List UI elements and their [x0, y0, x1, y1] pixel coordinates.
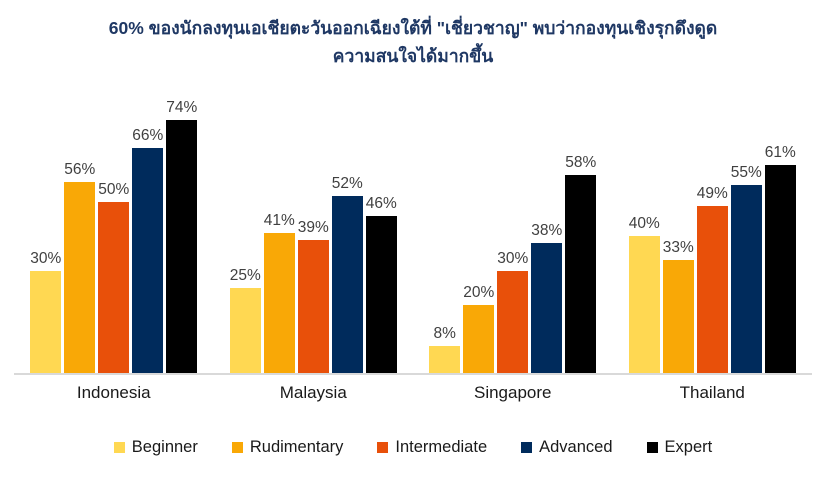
bar[interactable]: [531, 243, 562, 373]
bar-slot: 58%: [565, 100, 596, 373]
bar-value-label: 38%: [531, 223, 562, 239]
bar[interactable]: [64, 182, 95, 373]
bar-slot: 46%: [366, 100, 397, 373]
bar-group-indonesia: 30%56%50%66%74%: [14, 100, 214, 373]
bar[interactable]: [366, 216, 397, 373]
bar-value-label: 8%: [434, 326, 456, 342]
bar-slot: 8%: [429, 100, 460, 373]
bar-value-label: 74%: [166, 100, 197, 116]
legend-swatch-icon: [377, 442, 388, 453]
bar-value-label: 20%: [463, 285, 494, 301]
bar[interactable]: [731, 185, 762, 373]
legend-label: Beginner: [132, 438, 198, 457]
bar-value-label: 30%: [497, 251, 528, 267]
chart-container: 60% ของนักลงทุนเอเชียตะวันออกเฉียงใต้ที่…: [0, 0, 826, 485]
bar-value-label: 55%: [731, 165, 762, 181]
legend-label: Advanced: [539, 438, 612, 457]
bar-slot: 61%: [765, 100, 796, 373]
bar[interactable]: [30, 271, 61, 373]
bar[interactable]: [663, 260, 694, 373]
legend-swatch-icon: [232, 442, 243, 453]
bar-slot: 40%: [629, 100, 660, 373]
legend-swatch-icon: [114, 442, 125, 453]
legend-label: Intermediate: [395, 438, 487, 457]
bar-value-label: 30%: [30, 251, 61, 267]
bar[interactable]: [697, 206, 728, 373]
category-label-indonesia: Indonesia: [14, 383, 214, 403]
chart-title: 60% ของนักลงทุนเอเชียตะวันออกเฉียงใต้ที่…: [0, 14, 826, 70]
bar-value-label: 25%: [230, 268, 261, 284]
bar-value-label: 50%: [98, 182, 129, 198]
bar-slot: 74%: [166, 100, 197, 373]
bar-slot: 66%: [132, 100, 163, 373]
bar-value-label: 52%: [332, 176, 363, 192]
chart-title-line-1: 60% ของนักลงทุนเอเชียตะวันออกเฉียงใต้ที่…: [0, 14, 826, 42]
bar[interactable]: [429, 346, 460, 373]
legend-item-beginner[interactable]: Beginner: [114, 438, 198, 457]
bar-value-label: 46%: [366, 196, 397, 212]
bar-slot: 38%: [531, 100, 562, 373]
bar-value-label: 39%: [298, 220, 329, 236]
x-axis-category-labels: IndonesiaMalaysiaSingaporeThailand: [14, 383, 812, 403]
legend-label: Expert: [665, 438, 713, 457]
bar-value-label: 56%: [64, 162, 95, 178]
category-label-thailand: Thailand: [613, 383, 813, 403]
bar-groups: 30%56%50%66%74%25%41%39%52%46%8%20%30%38…: [14, 100, 812, 373]
bar-slot: 33%: [663, 100, 694, 373]
legend-swatch-icon: [647, 442, 658, 453]
bar[interactable]: [463, 305, 494, 373]
bar[interactable]: [298, 240, 329, 373]
bar-value-label: 66%: [132, 128, 163, 144]
bar-value-label: 61%: [765, 145, 796, 161]
category-label-malaysia: Malaysia: [214, 383, 414, 403]
plot-area: 30%56%50%66%74%25%41%39%52%46%8%20%30%38…: [14, 100, 812, 375]
bar-group-singapore: 8%20%30%38%58%: [413, 100, 613, 373]
bar[interactable]: [132, 148, 163, 373]
bar-slot: 50%: [98, 100, 129, 373]
bar-group-malaysia: 25%41%39%52%46%: [214, 100, 414, 373]
bar-value-label: 49%: [697, 186, 728, 202]
bar-value-label: 33%: [663, 240, 694, 256]
bar[interactable]: [497, 271, 528, 373]
x-axis-line: [14, 373, 812, 375]
bar-slot: 56%: [64, 100, 95, 373]
bar[interactable]: [332, 196, 363, 373]
bar-slot: 41%: [264, 100, 295, 373]
legend-item-advanced[interactable]: Advanced: [521, 438, 612, 457]
bar[interactable]: [765, 165, 796, 373]
legend-label: Rudimentary: [250, 438, 344, 457]
bar-slot: 30%: [497, 100, 528, 373]
chart-legend: BeginnerRudimentaryIntermediateAdvancedE…: [0, 438, 826, 457]
chart-title-line-2: ความสนใจได้มากขึ้น: [0, 42, 826, 70]
category-label-singapore: Singapore: [413, 383, 613, 403]
bar-slot: 52%: [332, 100, 363, 373]
bar-slot: 30%: [30, 100, 61, 373]
bar-slot: 39%: [298, 100, 329, 373]
bar[interactable]: [166, 120, 197, 373]
bar-value-label: 58%: [565, 155, 596, 171]
bar-value-label: 41%: [264, 213, 295, 229]
bar[interactable]: [565, 175, 596, 373]
bar[interactable]: [98, 202, 129, 373]
legend-item-expert[interactable]: Expert: [647, 438, 713, 457]
bar-slot: 20%: [463, 100, 494, 373]
bar-slot: 49%: [697, 100, 728, 373]
bar-slot: 25%: [230, 100, 261, 373]
bar-slot: 55%: [731, 100, 762, 373]
legend-item-intermediate[interactable]: Intermediate: [377, 438, 487, 457]
bar[interactable]: [629, 236, 660, 373]
bar[interactable]: [230, 288, 261, 373]
legend-swatch-icon: [521, 442, 532, 453]
legend-item-rudimentary[interactable]: Rudimentary: [232, 438, 344, 457]
bar-group-thailand: 40%33%49%55%61%: [613, 100, 813, 373]
bar[interactable]: [264, 233, 295, 373]
bar-value-label: 40%: [629, 216, 660, 232]
